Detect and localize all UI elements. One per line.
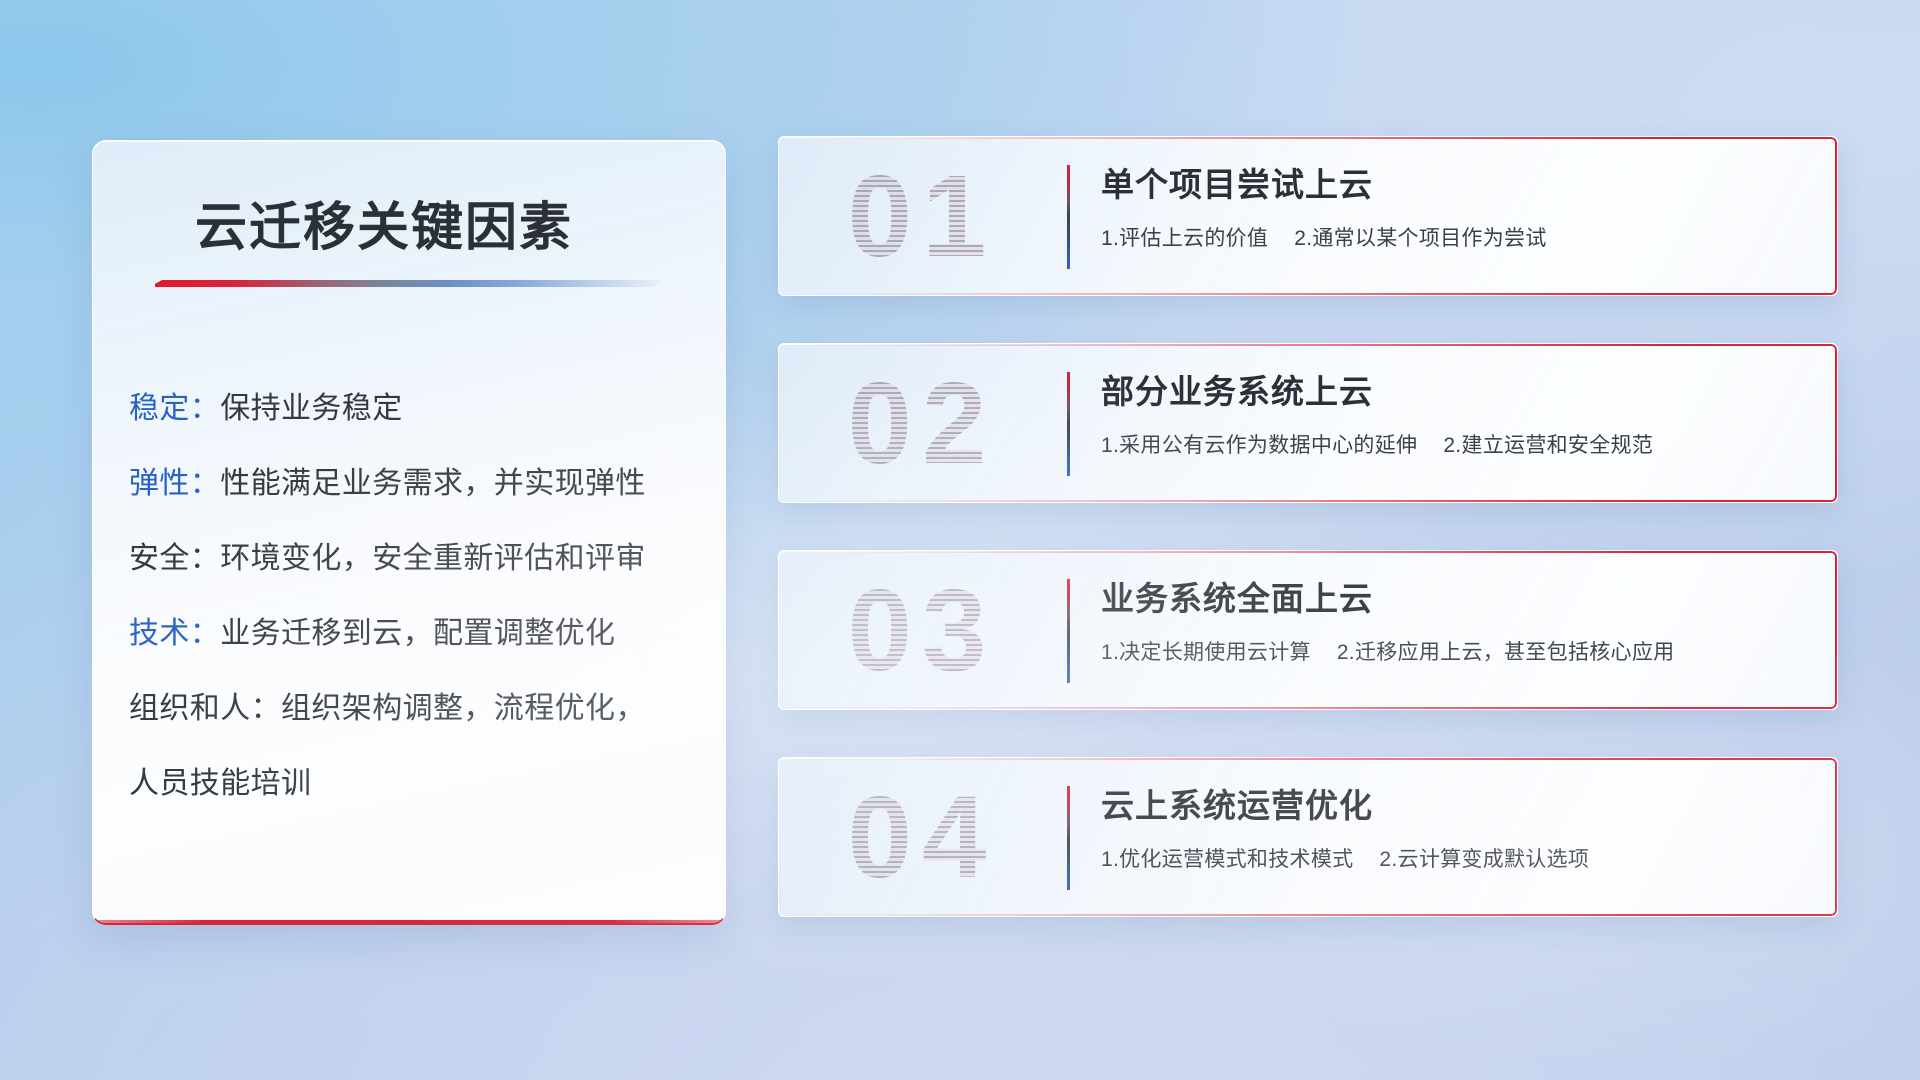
step-title: 业务系统全面上云 <box>1101 577 1813 621</box>
step-body: 部分业务系统上云 1.采用公有云作为数据中心的延伸2.建立运营和安全规范 <box>1101 370 1813 460</box>
step-description: 1.采用公有云作为数据中心的延伸2.建立运营和安全规范 <box>1101 432 1813 460</box>
migration-steps-list: 01 01 单个项目尝试上云 1.评估上云的价值2.通常以某个项目作为尝试 02… <box>778 136 1838 917</box>
step-divider-bar <box>1067 372 1070 476</box>
factor-label: 组织和人： <box>129 692 281 725</box>
step-divider-bar <box>1067 165 1070 269</box>
step-divider-bar <box>1067 579 1070 683</box>
step-desc-part-1: 1.优化运营模式和技术模式 <box>1101 848 1353 871</box>
step-card-02[interactable]: 02 02 部分业务系统上云 1.采用公有云作为数据中心的延伸2.建立运营和安全… <box>778 343 1838 503</box>
factor-list: 稳定：保持业务稳定 弹性：性能满足业务需求，并实现弹性 安全：环境变化，安全重新… <box>129 371 699 821</box>
step-divider-bar <box>1067 786 1070 890</box>
list-item: 安全：环境变化，安全重新评估和评审 <box>129 521 699 596</box>
step-desc-part-1: 1.采用公有云作为数据中心的延伸 <box>1101 434 1417 457</box>
list-item: 弹性：性能满足业务需求，并实现弹性 <box>129 446 699 521</box>
step-card-04[interactable]: 04 04 云上系统运营优化 1.优化运营模式和技术模式2.云计算变成默认选项 <box>778 757 1838 917</box>
factor-value: 组织架构调整，流程优化， <box>281 692 646 725</box>
step-number: 02 <box>797 362 1047 484</box>
list-item: 组织和人：组织架构调整，流程优化， <box>129 671 699 746</box>
step-card-03[interactable]: 03 03 业务系统全面上云 1.决定长期使用云计算2.迁移应用上云，甚至包括核… <box>778 550 1838 710</box>
step-title: 单个项目尝试上云 <box>1101 163 1813 207</box>
factor-label: 安全： <box>129 542 220 575</box>
factor-label: 技术： <box>129 617 220 650</box>
factor-label: 稳定： <box>129 392 220 425</box>
step-description: 1.评估上云的价值2.通常以某个项目作为尝试 <box>1101 225 1813 253</box>
step-desc-part-1: 1.评估上云的价值 <box>1101 227 1268 250</box>
list-item: 稳定：保持业务稳定 <box>129 371 699 446</box>
factor-value: 性能满足业务需求，并实现弹性 <box>220 467 646 500</box>
slide-canvas: 云迁移关键因素 稳定：保持业务稳定 弹性：性能满足业务需求，并实现弹性 安全：环… <box>0 0 1920 1080</box>
step-description: 1.优化运营模式和技术模式2.云计算变成默认选项 <box>1101 846 1813 874</box>
step-desc-part-1: 1.决定长期使用云计算 <box>1101 641 1311 664</box>
factor-value: 人员技能培训 <box>129 767 311 800</box>
factor-value: 保持业务稳定 <box>220 392 402 425</box>
step-card-01[interactable]: 01 01 单个项目尝试上云 1.评估上云的价值2.通常以某个项目作为尝试 <box>778 136 1838 296</box>
step-body: 单个项目尝试上云 1.评估上云的价值2.通常以某个项目作为尝试 <box>1101 163 1813 253</box>
list-item: 人员技能培训 <box>129 746 699 821</box>
key-factors-panel: 云迁移关键因素 稳定：保持业务稳定 弹性：性能满足业务需求，并实现弹性 安全：环… <box>92 140 726 925</box>
factor-label: 弹性： <box>129 467 220 500</box>
step-desc-part-2: 2.通常以某个项目作为尝试 <box>1294 227 1546 250</box>
step-title: 部分业务系统上云 <box>1101 370 1813 414</box>
step-desc-part-2: 2.云计算变成默认选项 <box>1379 848 1589 871</box>
factor-value: 业务迁移到云，配置调整优化 <box>220 617 615 650</box>
step-number: 04 <box>797 776 1047 898</box>
page-title: 云迁移关键因素 <box>195 185 573 260</box>
title-underline-rule <box>155 280 660 287</box>
step-desc-part-2: 2.迁移应用上云，甚至包括核心应用 <box>1337 641 1675 664</box>
step-description: 1.决定长期使用云计算2.迁移应用上云，甚至包括核心应用 <box>1101 639 1813 667</box>
list-item: 技术：业务迁移到云，配置调整优化 <box>129 596 699 671</box>
step-number: 03 <box>797 569 1047 691</box>
step-body: 云上系统运营优化 1.优化运营模式和技术模式2.云计算变成默认选项 <box>1101 784 1813 874</box>
step-number: 01 <box>797 155 1047 277</box>
factor-value: 环境变化，安全重新评估和评审 <box>220 542 646 575</box>
step-desc-part-2: 2.建立运营和安全规范 <box>1443 434 1653 457</box>
step-body: 业务系统全面上云 1.决定长期使用云计算2.迁移应用上云，甚至包括核心应用 <box>1101 577 1813 667</box>
step-title: 云上系统运营优化 <box>1101 784 1813 828</box>
